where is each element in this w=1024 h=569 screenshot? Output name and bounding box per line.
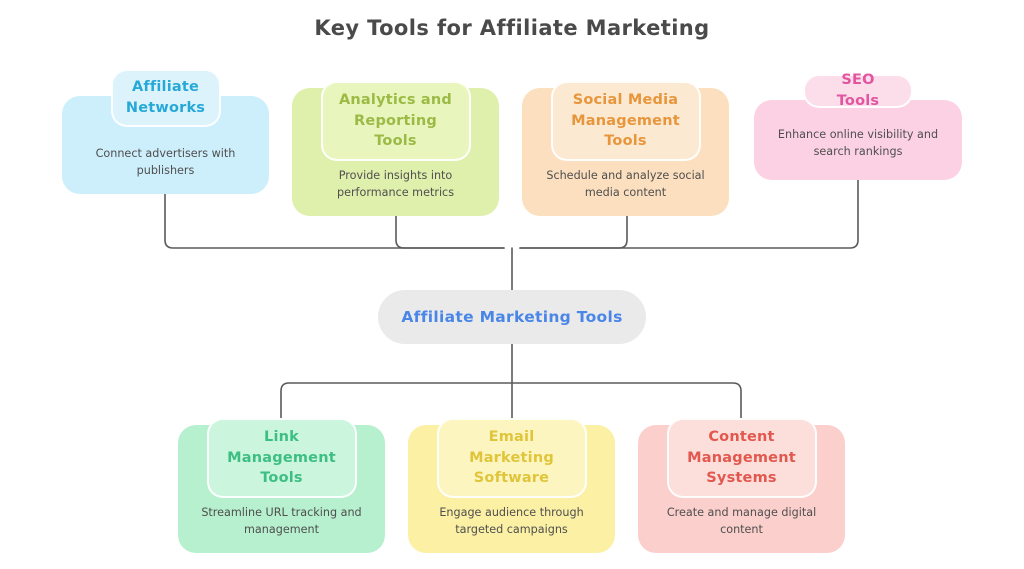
node-title-email-marketing-software: Email Marketing Software: [453, 427, 571, 489]
node-title-seo-tools: SEO Tools: [819, 70, 897, 111]
node-description-content-management-systems: Create and manage digital content: [638, 505, 845, 539]
node-description-email-marketing-software: Engage audience through targeted campaig…: [408, 505, 615, 539]
node-card-content-management-systems[interactable]: Content Management Systems Create and ma…: [638, 425, 845, 553]
root-node-affiliate-marketing-tools[interactable]: Affiliate Marketing Tools: [378, 290, 646, 344]
node-description-social-media-management-tools: Schedule and analyze social media conten…: [522, 168, 729, 202]
node-card-link-management-tools[interactable]: Link Management Tools Streamline URL tra…: [178, 425, 385, 553]
node-title-affiliate-networks: Affiliate Networks: [126, 77, 205, 118]
node-title-link-management-tools: Link Management Tools: [223, 427, 341, 489]
node-title-chip-affiliate-networks: Affiliate Networks: [111, 69, 221, 127]
node-card-social-media-management-tools[interactable]: Social Media Management Tools Schedule a…: [522, 88, 729, 216]
node-title-social-media-management-tools: Social Media Management Tools: [567, 90, 685, 152]
node-card-affiliate-networks[interactable]: Affiliate Networks Connect advertisers w…: [62, 96, 269, 194]
diagram-root: Key Tools for Affiliate Marketing Affili…: [0, 0, 1024, 569]
node-card-email-marketing-software[interactable]: Email Marketing Software Engage audience…: [408, 425, 615, 553]
connector-top-analytics: [396, 216, 504, 248]
node-title-chip-email-marketing-software: Email Marketing Software: [437, 418, 587, 498]
connector-top-social-media: [520, 216, 627, 248]
page-title: Key Tools for Affiliate Marketing: [0, 16, 1024, 40]
node-description-link-management-tools: Streamline URL tracking and management: [178, 505, 385, 539]
node-title-analytics-reporting-tools: Analytics and Reporting Tools: [337, 90, 455, 152]
node-description-affiliate-networks: Connect advertisers with publishers: [62, 146, 269, 180]
node-title-chip-link-management-tools: Link Management Tools: [207, 418, 357, 498]
node-title-content-management-systems: Content Management Systems: [683, 427, 801, 489]
node-description-seo-tools: Enhance online visibility and search ran…: [754, 127, 962, 161]
node-title-chip-content-management-systems: Content Management Systems: [667, 418, 817, 498]
node-card-seo-tools[interactable]: SEO Tools Enhance online visibility and …: [754, 100, 962, 180]
root-node-label: Affiliate Marketing Tools: [401, 308, 622, 326]
node-title-chip-social-media-management-tools: Social Media Management Tools: [551, 81, 701, 161]
node-title-chip-seo-tools: SEO Tools: [803, 74, 913, 108]
node-card-analytics-reporting-tools[interactable]: Analytics and Reporting Tools Provide in…: [292, 88, 499, 216]
node-description-analytics-reporting-tools: Provide insights into performance metric…: [292, 168, 499, 202]
node-title-chip-analytics-reporting-tools: Analytics and Reporting Tools: [321, 81, 471, 161]
